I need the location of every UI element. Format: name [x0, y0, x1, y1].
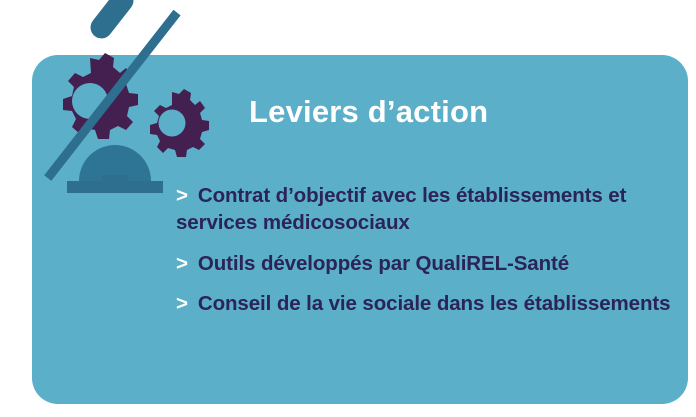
page-title: Leviers d’action [249, 94, 488, 130]
list-item: >Conseil de la vie sociale dans les étab… [176, 290, 676, 317]
slide-canvas: Leviers d’action >Contrat d’objectif ave… [0, 0, 696, 417]
chevron-right-icon: > [176, 252, 188, 275]
gear-small-icon [150, 89, 209, 157]
list-item-label: Outils développés par QualiREL-Santé [198, 252, 569, 275]
list-item-label: Conseil de la vie sociale dans les établ… [198, 292, 671, 315]
list-item: >Contrat d’objectif avec les établisseme… [176, 182, 676, 237]
lever-handle [86, 0, 138, 43]
list-item-label: Contrat d’objectif avec les établissemen… [176, 184, 626, 234]
chevron-right-icon: > [176, 292, 188, 315]
bullet-list: >Contrat d’objectif avec les établisseme… [176, 182, 676, 318]
lever-and-gears-illustration [0, 0, 230, 210]
list-item: >Outils développés par QualiREL-Santé [176, 250, 676, 277]
gear-large-icon [63, 53, 138, 139]
chevron-right-icon: > [176, 184, 188, 207]
